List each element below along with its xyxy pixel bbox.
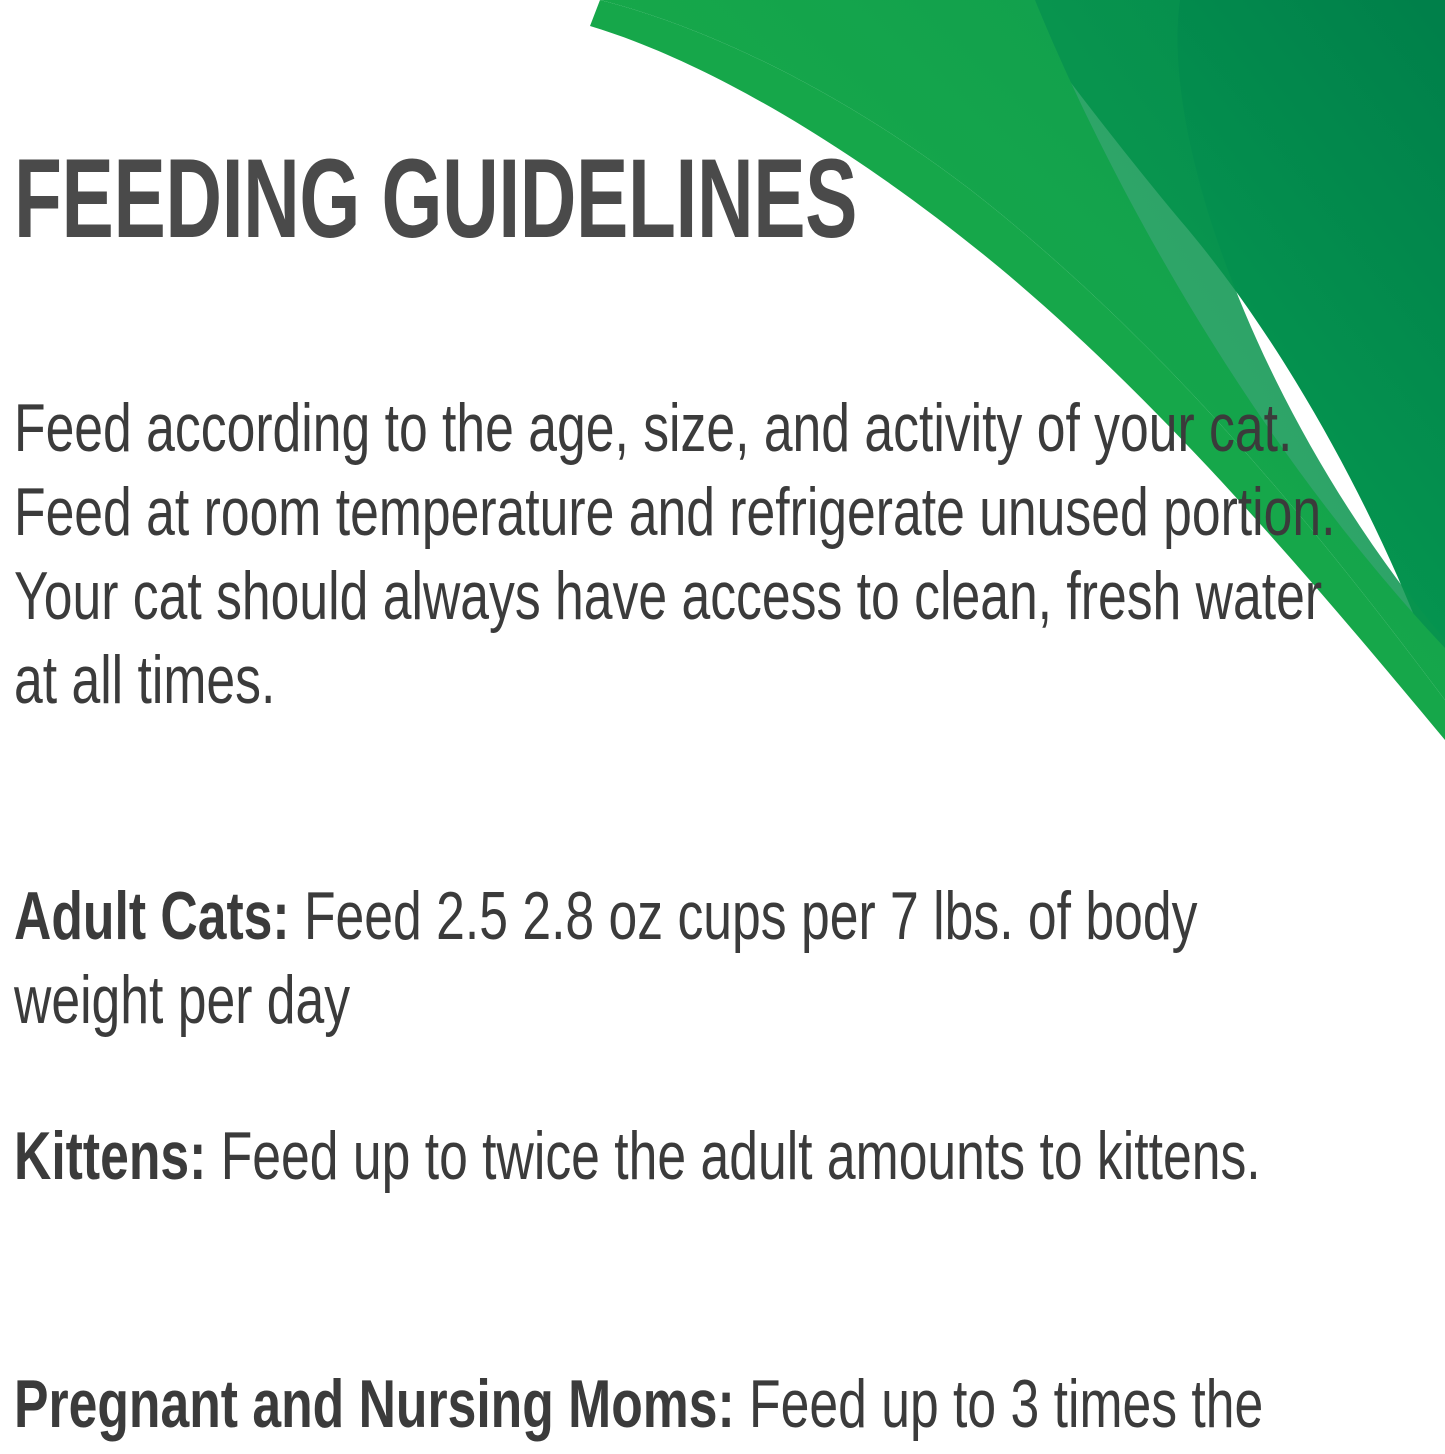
adult-cats-section: Adult Cats: Feed 2.5 2.8 oz cups per 7 l… <box>14 874 1336 1042</box>
page-title: FEEDING GUIDELINES <box>14 143 857 255</box>
intro-paragraph: Feed according to the age, size, and act… <box>14 386 1336 722</box>
kittens-section: Kittens: Feed up to twice the adult amou… <box>14 1114 1336 1198</box>
adult-cats-label: Adult Cats: <box>14 878 290 954</box>
kittens-text: Feed up to twice the adult amounts to ki… <box>206 1118 1260 1194</box>
pregnant-nursing-moms-label: Pregnant and Nursing Moms: <box>14 1366 735 1442</box>
feeding-guidelines-panel: FEEDING GUIDELINES Feed according to the… <box>0 0 1445 1454</box>
pregnant-nursing-moms-section: Pregnant and Nursing Moms: Feed up to 3 … <box>14 1362 1336 1454</box>
kittens-label: Kittens: <box>14 1118 206 1194</box>
